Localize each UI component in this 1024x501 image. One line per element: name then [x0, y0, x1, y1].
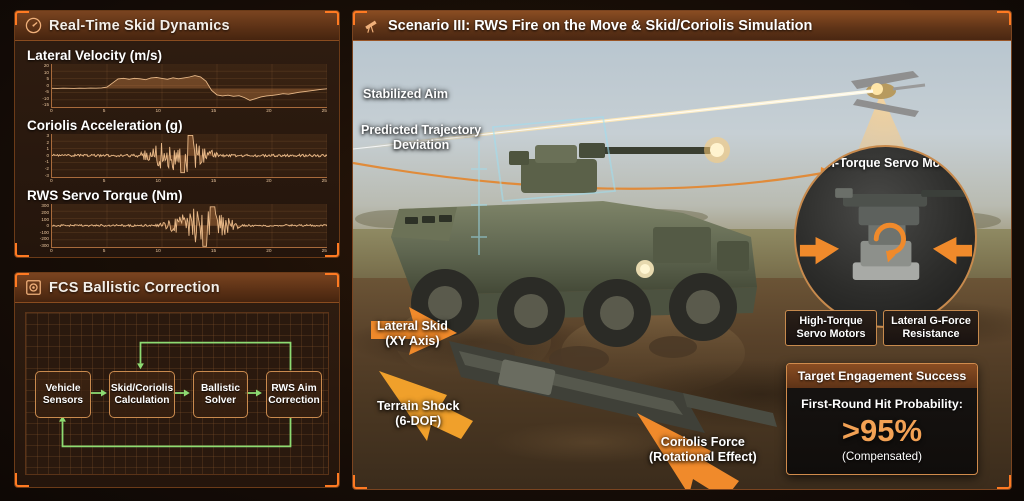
x-tick-label: 25: [322, 178, 327, 185]
chart-plot-area: 201050-5-10-15: [25, 64, 327, 108]
x-tick-label: 5: [103, 108, 106, 115]
x-tick-label: 10: [155, 108, 160, 115]
flow-node-line1: RWS Aim: [271, 383, 316, 395]
x-tick-label: 15: [211, 108, 216, 115]
gauge-icon: [25, 17, 42, 34]
x-tick-label: 0: [50, 248, 53, 255]
chart-y-axis: 3210-1-2-3: [25, 134, 51, 178]
x-tick-label: 10: [155, 178, 160, 185]
y-tick-label: 10: [44, 71, 49, 76]
chart-plot-area: 3210-1-2-3: [25, 134, 327, 178]
annotation-stabilized-aim: Stabilized Aim: [363, 87, 448, 102]
fcs-panel-header: FCS Ballistic Correction: [15, 273, 339, 303]
drone-target: [851, 71, 925, 117]
chip-line2: Servo Motors: [791, 328, 871, 341]
chart-canvas: [51, 204, 327, 248]
y-tick-label: -15: [42, 103, 49, 108]
flow-node-vehicle-sensors[interactable]: Vehicle Sensors: [35, 371, 91, 418]
skid-dynamics-panel: Real-Time Skid Dynamics Lateral Velocity…: [14, 10, 340, 258]
skid-panel-header: Real-Time Skid Dynamics: [15, 11, 339, 41]
scenario-title: Scenario III: RWS Fire on the Move & Ski…: [388, 18, 812, 34]
y-tick-label: 100: [41, 218, 49, 223]
chart-y-axis: 3002001000-100-200-300: [25, 204, 51, 248]
inset-turret-art: [796, 147, 975, 326]
chip-line1: High-Torque: [791, 315, 871, 328]
x-tick-label: 10: [155, 248, 160, 255]
chart-x-axis: 0510152025: [51, 108, 327, 115]
annotation-coriolis-force: Coriolis Force (Rotational Effect): [649, 435, 757, 465]
dashboard-root: Real-Time Skid Dynamics Lateral Velocity…: [0, 0, 1024, 501]
flow-node-line2: Solver: [205, 395, 236, 407]
chip-line1: Lateral G-Force: [889, 315, 973, 328]
first-round-hit-probability-value: >95%: [793, 415, 971, 448]
flow-node-skid-coriolis-calculation[interactable]: Skid/Coriolis Calculation: [109, 371, 175, 418]
chart-canvas: [51, 64, 327, 108]
y-tick-label: 3: [46, 134, 49, 139]
chart-x-axis: 0510152025: [51, 178, 327, 185]
y-tick-label: -5: [45, 90, 49, 95]
skid-charts-container: Lateral Velocity (m/s)201050-5-10-150510…: [15, 41, 339, 258]
flow-node-line1: Skid/Coriolis: [111, 383, 173, 395]
armored-vehicle: [387, 117, 757, 395]
fcs-flow-diagram: Vehicle Sensors Skid/Coriolis Calculatio…: [25, 312, 329, 475]
fcs-ballistic-correction-panel: FCS Ballistic Correction: [14, 272, 340, 488]
muzzle-flash: [704, 137, 730, 163]
chip-lateral-g-force-resistance: Lateral G-Force Resistance: [883, 310, 979, 346]
annotation-terrain-shock: Terrain Shock (6-DOF): [377, 399, 459, 429]
chart-block-1: Coriolis Acceleration (g)3210-1-2-305101…: [25, 118, 327, 185]
chip-line2: Resistance: [889, 328, 973, 341]
chart-plot-area: 3002001000-100-200-300: [25, 204, 327, 248]
x-tick-label: 15: [211, 248, 216, 255]
x-tick-label: 5: [103, 178, 106, 185]
chart-title: RWS Servo Torque (Nm): [27, 188, 327, 203]
y-tick-label: 2: [46, 141, 49, 146]
chart-block-2: RWS Servo Torque (Nm)3002001000-100-200-…: [25, 188, 327, 255]
y-tick-label: -10: [42, 97, 49, 102]
flow-node-line2: Calculation: [115, 395, 170, 407]
chart-title: Lateral Velocity (m/s): [27, 48, 327, 63]
fcs-panel-title: FCS Ballistic Correction: [49, 280, 220, 296]
target-box-body: First-Round Hit Probability: >95% (Compe…: [787, 388, 977, 474]
flow-node-line1: Ballistic: [201, 383, 240, 395]
y-tick-label: -1: [45, 160, 49, 165]
x-tick-label: 25: [322, 248, 327, 255]
scenario-illustration: Stabilized Aim Predicted Trajectory Devi…: [353, 41, 1011, 489]
flow-node-line2: Correction: [268, 395, 320, 407]
annotation-lateral-skid: Lateral Skid (XY Axis): [377, 319, 448, 349]
flow-node-ballistic-solver[interactable]: Ballistic Solver: [193, 371, 248, 418]
y-tick-label: -300: [40, 244, 49, 249]
x-tick-label: 25: [322, 108, 327, 115]
y-tick-label: -3: [45, 174, 49, 179]
chart-y-axis: 201050-5-10-15: [25, 64, 51, 108]
annotation-predicted-trajectory-deviation: Predicted Trajectory Deviation: [361, 123, 481, 153]
x-tick-label: 0: [50, 108, 53, 115]
y-tick-label: 300: [41, 204, 49, 209]
corner-bracket-bottom-left: [14, 473, 29, 488]
first-round-hit-probability-label: First-Round Hit Probability:: [793, 397, 971, 411]
chart-series-line: [52, 207, 327, 246]
x-tick-label: 0: [50, 178, 53, 185]
y-tick-label: -100: [40, 231, 49, 236]
skid-panel-title: Real-Time Skid Dynamics: [49, 18, 230, 34]
rws-detail-inset: High-Torque Servo Motors: [794, 145, 977, 328]
x-tick-label: 20: [266, 178, 271, 185]
y-tick-label: 0: [46, 154, 49, 159]
y-tick-label: 5: [46, 77, 49, 82]
telescope-icon: [363, 17, 380, 34]
flow-node-line2: Sensors: [43, 395, 83, 407]
y-tick-label: 20: [44, 64, 49, 69]
target-box-header: Target Engagement Success: [787, 364, 977, 388]
x-tick-label: 20: [266, 248, 271, 255]
corner-bracket-bottom-right: [325, 473, 340, 488]
y-tick-label: 0: [46, 224, 49, 229]
flow-node-line1: Vehicle: [45, 383, 80, 395]
x-tick-label: 15: [211, 178, 216, 185]
flow-node-rws-aim-correction[interactable]: RWS Aim Correction: [266, 371, 322, 418]
chip-high-torque-servo-motors: High-Torque Servo Motors: [785, 310, 877, 346]
chart-block-0: Lateral Velocity (m/s)201050-5-10-150510…: [25, 48, 327, 115]
scenario-panel-header: Scenario III: RWS Fire on the Move & Ski…: [353, 11, 1011, 41]
y-tick-label: 1: [46, 147, 49, 152]
chart-title: Coriolis Acceleration (g): [27, 118, 327, 133]
compensated-note: (Compensated): [793, 450, 971, 463]
x-tick-label: 5: [103, 248, 106, 255]
rws-turret: [509, 137, 730, 193]
chart-x-axis: 0510152025: [51, 248, 327, 255]
x-tick-label: 20: [266, 108, 271, 115]
chart-canvas: [51, 134, 327, 178]
crosshair-target-icon: [25, 279, 42, 296]
y-tick-label: 0: [46, 84, 49, 89]
y-tick-label: -2: [45, 167, 49, 172]
y-tick-label: -200: [40, 237, 49, 242]
scenario-panel: Scenario III: RWS Fire on the Move & Ski…: [352, 10, 1012, 490]
y-tick-label: 200: [41, 211, 49, 216]
target-engagement-success-box: Target Engagement Success First-Round Hi…: [786, 363, 978, 475]
